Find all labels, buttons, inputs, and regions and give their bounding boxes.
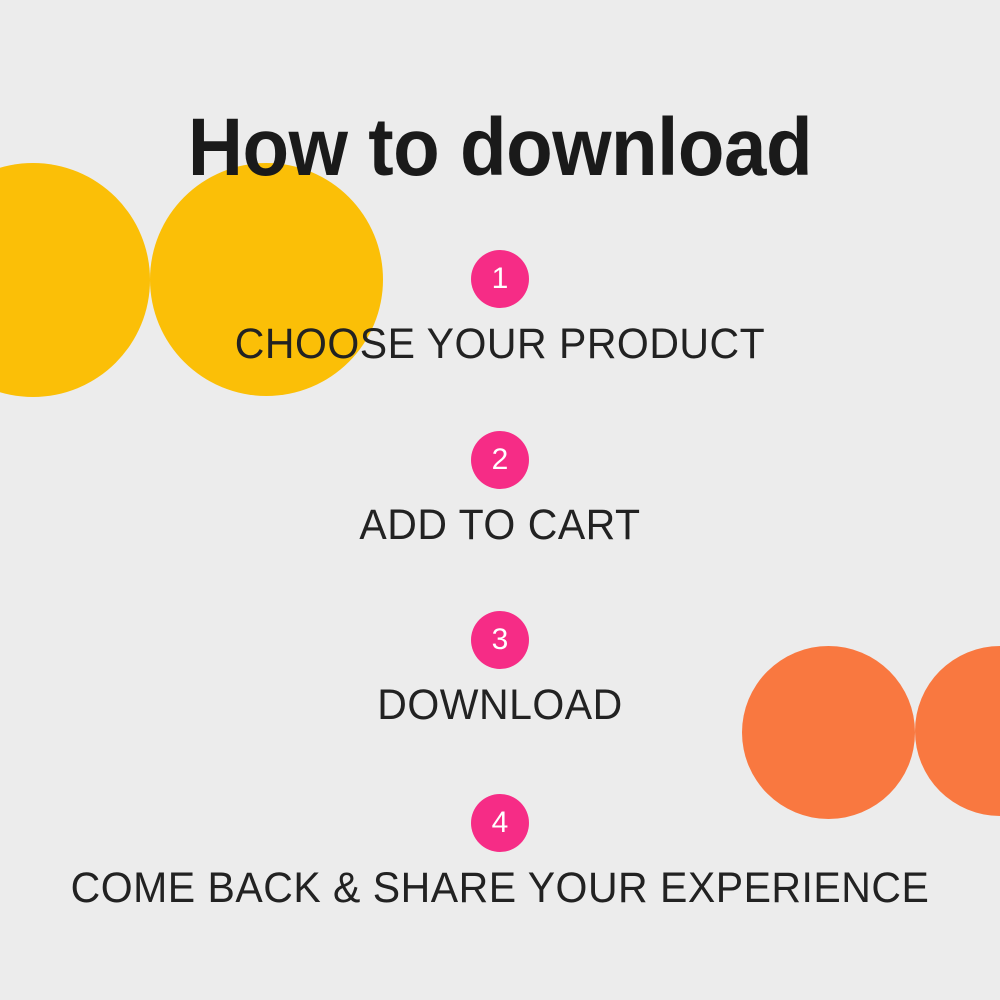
- step-number-badge-2: 2: [471, 431, 529, 489]
- step-number-badge-1: 1: [471, 250, 529, 308]
- step-item-4: 4 COME BACK & SHARE YOUR EXPERIENCE: [0, 794, 1000, 912]
- step-item-1: 1 CHOOSE YOUR PRODUCT: [0, 250, 1000, 368]
- steps-list: 1 CHOOSE YOUR PRODUCT 2 ADD TO CART 3 DO…: [0, 0, 1000, 1000]
- step-label-2: ADD TO CART: [0, 489, 1000, 552]
- step-item-2: 2 ADD TO CART: [0, 431, 1000, 549]
- poster-canvas: How to download 1 CHOOSE YOUR PRODUCT 2 …: [0, 0, 1000, 1000]
- step-number-badge-4: 4: [471, 794, 529, 852]
- step-number-badge-3: 3: [471, 611, 529, 669]
- step-item-3: 3 DOWNLOAD: [0, 611, 1000, 729]
- step-label-1: CHOOSE YOUR PRODUCT: [0, 308, 1000, 371]
- step-label-3: DOWNLOAD: [0, 669, 1000, 732]
- step-label-4: COME BACK & SHARE YOUR EXPERIENCE: [0, 852, 1000, 915]
